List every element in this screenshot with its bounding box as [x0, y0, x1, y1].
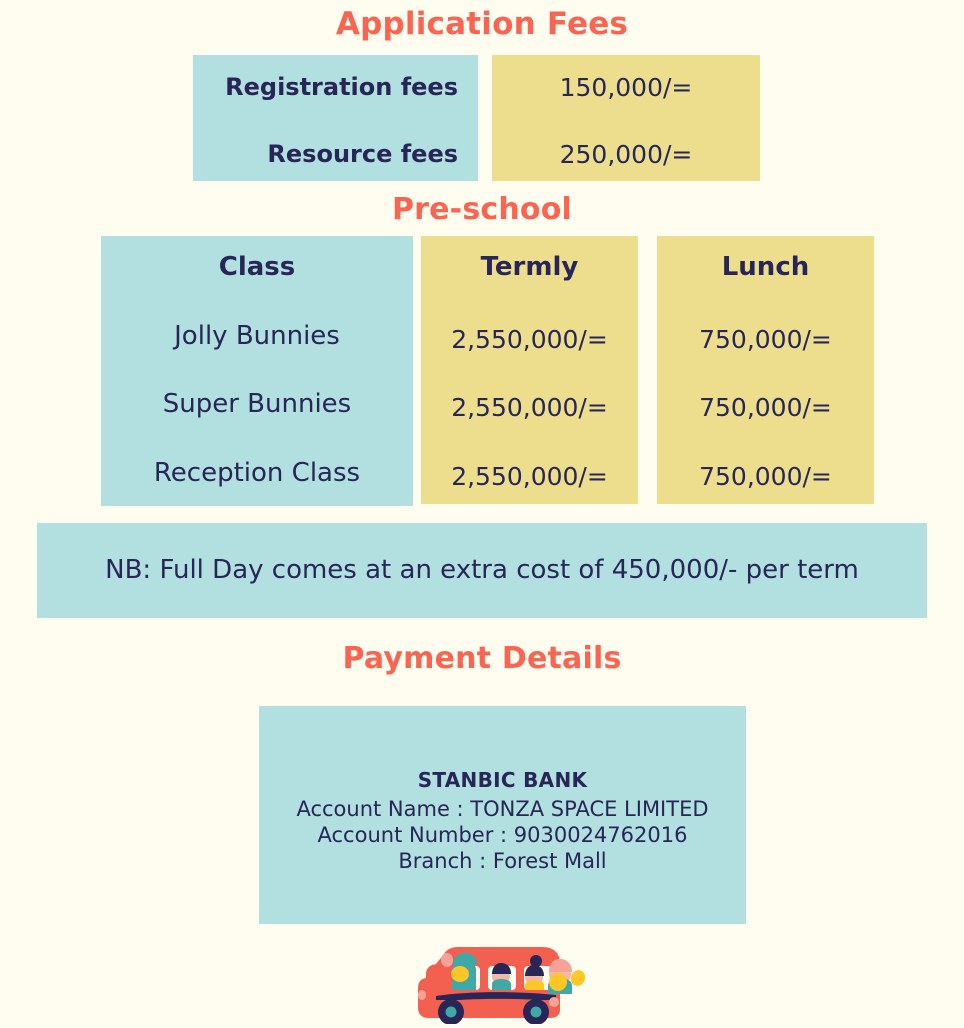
preschool-class-cell-0: Jolly Bunnies: [101, 321, 413, 351]
school-bus-icon: [408, 938, 588, 1024]
branch-line: Branch : Forest Mall: [259, 849, 746, 873]
preschool-header-termly: Termly: [421, 252, 638, 282]
preschool-header-lunch: Lunch: [657, 252, 874, 282]
application-fees-value-column: 150,000/= 250,000/=: [492, 55, 760, 181]
preschool-class-cell-2: Reception Class: [101, 458, 413, 488]
preschool-termly-cell-1: 2,550,000/=: [421, 393, 638, 422]
preschool-lunch-column: Lunch 750,000/= 750,000/= 750,000/=: [657, 236, 874, 504]
note-panel: NB: Full Day comes at an extra cost of 4…: [37, 523, 927, 618]
preschool-lunch-cell-1: 750,000/=: [657, 393, 874, 422]
application-fees-label-column: Registration fees Resource fees: [193, 55, 478, 181]
application-fee-value-0: 150,000/=: [492, 73, 760, 102]
preschool-header-class: Class: [101, 252, 413, 282]
application-fee-value-1: 250,000/=: [492, 140, 760, 169]
preschool-lunch-cell-0: 750,000/=: [657, 325, 874, 354]
section-title-payment-details: Payment Details: [0, 641, 964, 676]
preschool-termly-cell-0: 2,550,000/=: [421, 325, 638, 354]
preschool-termly-cell-2: 2,550,000/=: [421, 462, 638, 491]
application-fee-label-1: Resource fees: [267, 140, 458, 168]
preschool-lunch-cell-2: 750,000/=: [657, 462, 874, 491]
account-number-line: Account Number : 9030024762016: [259, 823, 746, 847]
bank-name: STANBIC BANK: [259, 768, 746, 792]
note-text: NB: Full Day comes at an extra cost of 4…: [37, 555, 927, 585]
preschool-termly-column: Termly 2,550,000/= 2,550,000/= 2,550,000…: [421, 236, 638, 504]
section-title-application-fees: Application Fees: [0, 6, 964, 42]
payment-details-panel: STANBIC BANK Account Name : TONZA SPACE …: [259, 706, 746, 924]
account-name-line: Account Name : TONZA SPACE LIMITED: [259, 797, 746, 821]
preschool-class-cell-1: Super Bunnies: [101, 389, 413, 419]
application-fee-label-0: Registration fees: [225, 73, 458, 101]
fees-structure-page: Application Fees Registration fees Resou…: [0, 0, 964, 1024]
school-bus-illustration: [408, 938, 588, 1024]
section-title-preschool: Pre-school: [0, 192, 964, 227]
preschool-class-column: Class Jolly Bunnies Super Bunnies Recept…: [101, 236, 413, 506]
